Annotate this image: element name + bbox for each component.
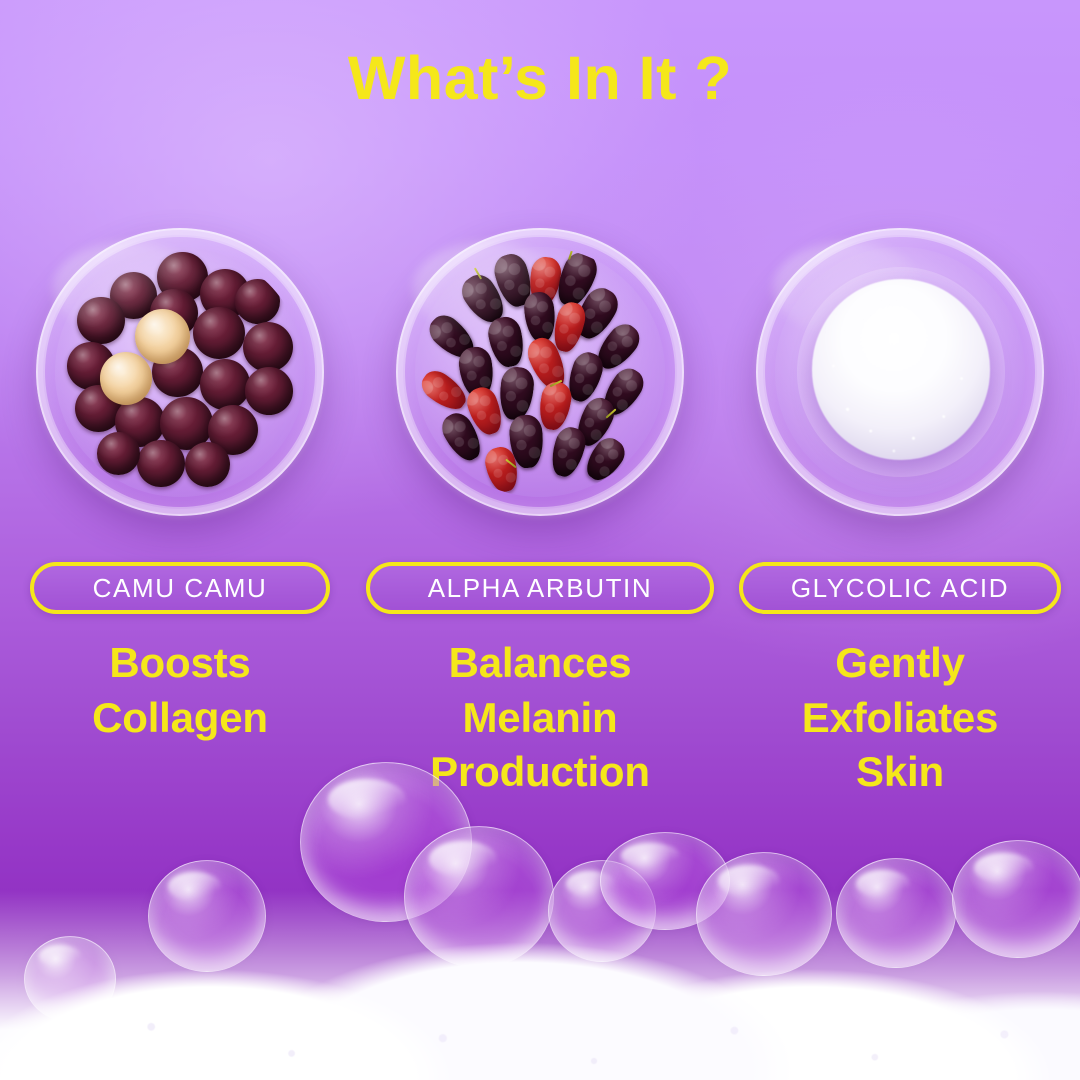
page-title: What’s In It ? (0, 46, 1080, 111)
ingredient-columns: CAMU CAMU Boosts Collagen (0, 222, 1080, 800)
benefit-camu-camu: Boosts Collagen (92, 636, 268, 745)
benefit-line: Skin (802, 745, 998, 800)
badge-label: CAMU CAMU (93, 573, 268, 604)
ingredients-poster: What’s In It ? (0, 0, 1080, 1080)
benefit-line: Gently (802, 636, 998, 691)
bowl-contents-mulberries (415, 247, 666, 498)
ingredient-card-glycolic-acid: GLYCOLIC ACID Gently Exfoliates Skin (720, 222, 1080, 800)
bubble-icon (696, 852, 832, 976)
foam-decoration (0, 820, 1080, 1080)
bubble-icon (548, 860, 656, 962)
badge-alpha-arbutin[interactable]: ALPHA ARBUTIN (366, 562, 714, 614)
ingredient-card-alpha-arbutin: ALPHA ARBUTIN Balances Melanin Productio… (360, 222, 720, 800)
benefit-line: Production (430, 745, 650, 800)
benefit-glycolic-acid: Gently Exfoliates Skin (802, 636, 998, 800)
benefit-line: Boosts (92, 636, 268, 691)
bowl-alpha-arbutin (390, 222, 690, 522)
badge-label: ALPHA ARBUTIN (428, 573, 653, 604)
benefit-line: Melanin (430, 691, 650, 746)
foam-texture (0, 890, 1080, 1080)
benefit-line: Collagen (92, 691, 268, 746)
badge-camu-camu[interactable]: CAMU CAMU (30, 562, 330, 614)
bowl-contents-berries (55, 247, 306, 498)
glass-bowl-icon (36, 228, 324, 516)
bubble-icon (836, 858, 956, 968)
bubble-icon (404, 826, 554, 968)
bowl-camu-camu (30, 222, 330, 522)
bowl-glycolic-acid (750, 222, 1050, 522)
badge-glycolic-acid[interactable]: GLYCOLIC ACID (739, 562, 1061, 614)
bubble-icon (24, 936, 116, 1022)
badge-label: GLYCOLIC ACID (791, 573, 1009, 604)
glass-bowl-icon (756, 228, 1044, 516)
berry-pale (100, 352, 153, 405)
ingredient-card-camu-camu: CAMU CAMU Boosts Collagen (0, 222, 360, 800)
bubble-icon (600, 832, 730, 930)
bubble-icon (952, 840, 1080, 958)
bowl-contents-powder (775, 247, 1026, 498)
powder-mound (812, 279, 990, 459)
benefit-alpha-arbutin: Balances Melanin Production (430, 636, 650, 800)
foam-mass (0, 890, 1080, 1080)
bubble-icon (148, 860, 266, 972)
benefit-line: Balances (430, 636, 650, 691)
glass-bowl-icon (396, 228, 684, 516)
benefit-line: Exfoliates (802, 691, 998, 746)
